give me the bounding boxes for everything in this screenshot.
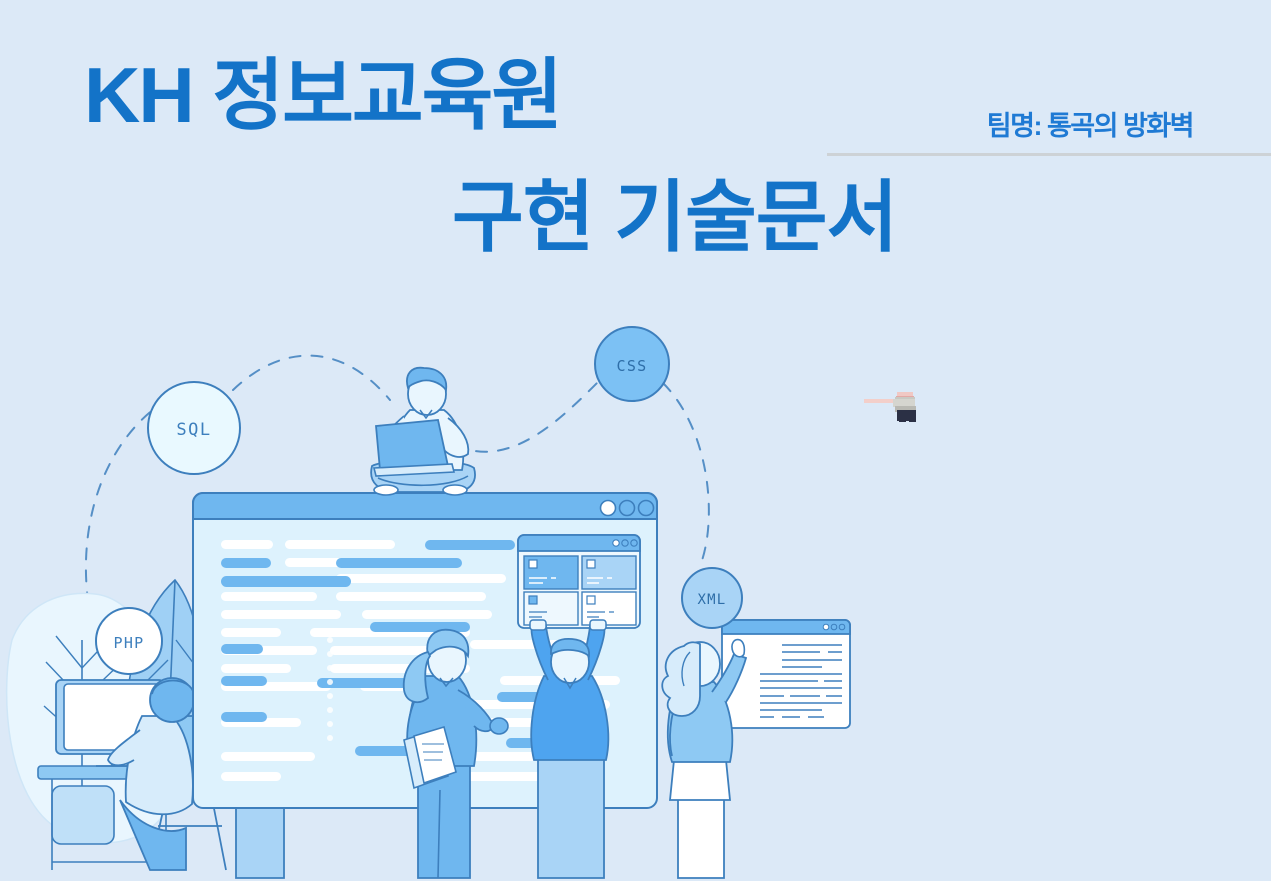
tech-badge-sql: SQL — [148, 382, 240, 474]
slide-root: SQL CSS PHP XML — [0, 0, 1271, 881]
team-name-block: 팀명: 통곡의 방화벽 — [827, 112, 1271, 156]
team-name-divider — [827, 153, 1271, 156]
svg-text:CSS: CSS — [617, 357, 648, 375]
tech-badge-css: CSS — [595, 327, 669, 401]
team-name-label: 팀명: 통곡의 방화벽 — [827, 112, 1271, 142]
document-panel-dots — [823, 624, 845, 630]
page-title-main: KH 정보교육원 — [84, 56, 561, 134]
tech-badge-xml: XML — [682, 568, 742, 628]
svg-text:XML: XML — [698, 592, 727, 608]
card-panel-dots — [613, 540, 637, 546]
tech-badge-php: PHP — [96, 608, 162, 674]
svg-text:PHP: PHP — [114, 634, 145, 652]
illustration-card-panel — [518, 535, 640, 628]
window-traffic-dots — [601, 501, 654, 516]
page-title-sub: 구현 기술문서 — [452, 178, 897, 256]
figure-man-lifting-panel — [530, 620, 608, 878]
svg-text:SQL: SQL — [176, 420, 211, 440]
